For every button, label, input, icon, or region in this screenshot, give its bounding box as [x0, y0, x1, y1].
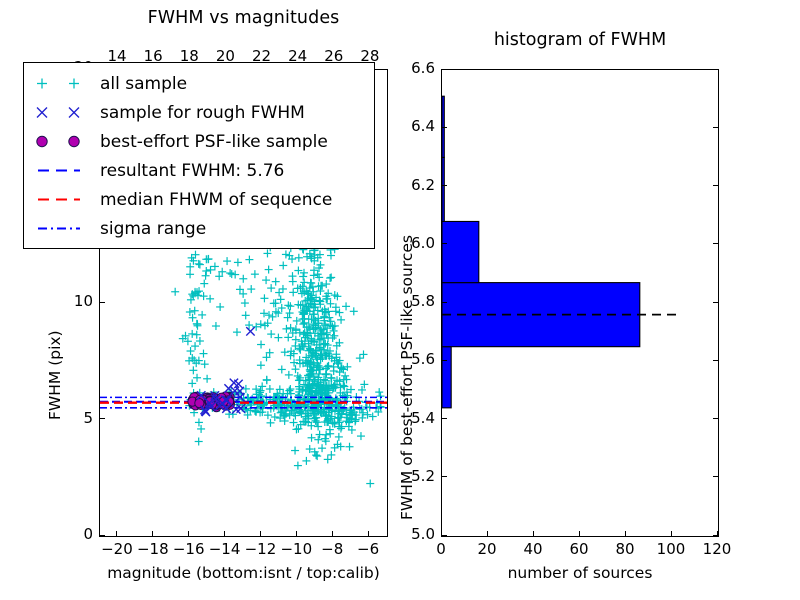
left-xaxis-label: magnitude (bottom:isnt / top:calib)	[99, 564, 388, 582]
axis-tick-label: −16	[171, 540, 207, 558]
legend-item-label: median FHWM of sequence	[100, 190, 332, 210]
axis-tick	[713, 185, 719, 186]
axis-tick	[332, 531, 333, 537]
axis-tick	[224, 531, 225, 537]
legend-item: median FHWM of sequence	[24, 185, 374, 214]
legend-item-label: best-effort PSF-like sample	[100, 132, 328, 152]
axis-tick	[441, 127, 447, 128]
right-xaxis-label: number of sources	[441, 564, 719, 582]
axis-tick-label: 20	[469, 540, 505, 558]
right-yaxis-label: FWHM of best-effort PSF-like sources	[398, 235, 416, 520]
legend-item-label: sigma range	[100, 219, 206, 239]
axis-tick-label: 40	[515, 540, 551, 558]
left-yaxis-label: FWHM (pix)	[46, 330, 64, 420]
axis-tick-label: 120	[699, 540, 735, 558]
axis-tick	[713, 243, 719, 244]
axis-tick-label: −14	[207, 540, 243, 558]
axis-tick-label: −10	[278, 540, 314, 558]
axis-tick	[713, 302, 719, 303]
axis-tick-label: 10	[57, 292, 93, 310]
axis-tick-label: 0	[57, 525, 93, 543]
axis-tick-label: −8	[314, 540, 350, 558]
legend-item: best-effort PSF-like sample	[24, 127, 374, 156]
axis-tick-label: 80	[607, 540, 643, 558]
axis-tick	[188, 531, 189, 537]
axis-tick	[99, 418, 105, 419]
right-plot-axes	[441, 69, 719, 537]
axis-tick-label: −20	[99, 540, 135, 558]
left-plot-title: FWHM vs magnitudes	[99, 8, 388, 28]
axis-tick-label: −12	[242, 540, 278, 558]
axis-tick-label: 6.4	[393, 117, 435, 135]
histogram-svg	[442, 70, 718, 536]
axis-tick-label: 6.2	[393, 176, 435, 194]
axis-tick-label: 5.0	[393, 525, 435, 543]
axis-tick	[713, 127, 719, 128]
legend-marker-cross-icon	[24, 98, 100, 127]
axis-tick-label: 100	[653, 540, 689, 558]
axis-tick	[713, 69, 719, 70]
axis-tick	[116, 531, 117, 537]
axis-tick	[671, 531, 672, 537]
axis-tick	[713, 476, 719, 477]
figure-canvas: FWHM vs magnitudes −20−18−16−14−12−10−8−…	[0, 0, 800, 600]
axis-tick	[579, 531, 580, 537]
legend-item-label: all sample	[100, 74, 187, 94]
legend-marker-dashed-line-icon	[24, 156, 100, 185]
axis-tick	[713, 418, 719, 419]
axis-tick	[260, 531, 261, 537]
legend-box: all samplesample for rough FWHMbest-effo…	[23, 62, 375, 249]
axis-tick	[368, 531, 369, 537]
legend-item: sample for rough FWHM	[24, 98, 374, 127]
legend-item: resultant FWHM: 5.76	[24, 156, 374, 185]
axis-tick	[441, 535, 447, 536]
axis-tick	[441, 243, 447, 244]
axis-tick	[441, 69, 447, 70]
legend-item: all sample	[24, 69, 374, 98]
right-plot-area	[442, 70, 718, 536]
legend-item-label: resultant FWHM: 5.76	[100, 161, 284, 181]
legend-item: sigma range	[24, 214, 374, 243]
legend-marker-dashed-line-icon	[24, 185, 100, 214]
axis-tick	[441, 302, 447, 303]
legend-marker-plus-icon	[24, 69, 100, 98]
axis-tick-label: 6.6	[393, 59, 435, 77]
axis-tick	[99, 302, 105, 303]
legend-marker-dashdot-line-icon	[24, 214, 100, 243]
axis-tick	[533, 531, 534, 537]
axis-tick-label: −6	[350, 540, 386, 558]
axis-tick	[441, 418, 447, 419]
legend-marker-circle-icon	[24, 127, 100, 156]
axis-tick	[99, 535, 105, 536]
right-plot-title: histogram of FWHM	[441, 30, 719, 50]
axis-tick-label: 60	[561, 540, 597, 558]
axis-tick	[441, 476, 447, 477]
axis-tick	[152, 531, 153, 537]
axis-tick	[713, 535, 719, 536]
axis-tick	[296, 531, 297, 537]
axis-tick	[441, 185, 447, 186]
legend-item-label: sample for rough FWHM	[100, 103, 305, 123]
axis-tick	[625, 531, 626, 537]
axis-tick	[441, 360, 447, 361]
axis-tick-label: −18	[135, 540, 171, 558]
axis-tick	[487, 531, 488, 537]
axis-tick	[713, 360, 719, 361]
